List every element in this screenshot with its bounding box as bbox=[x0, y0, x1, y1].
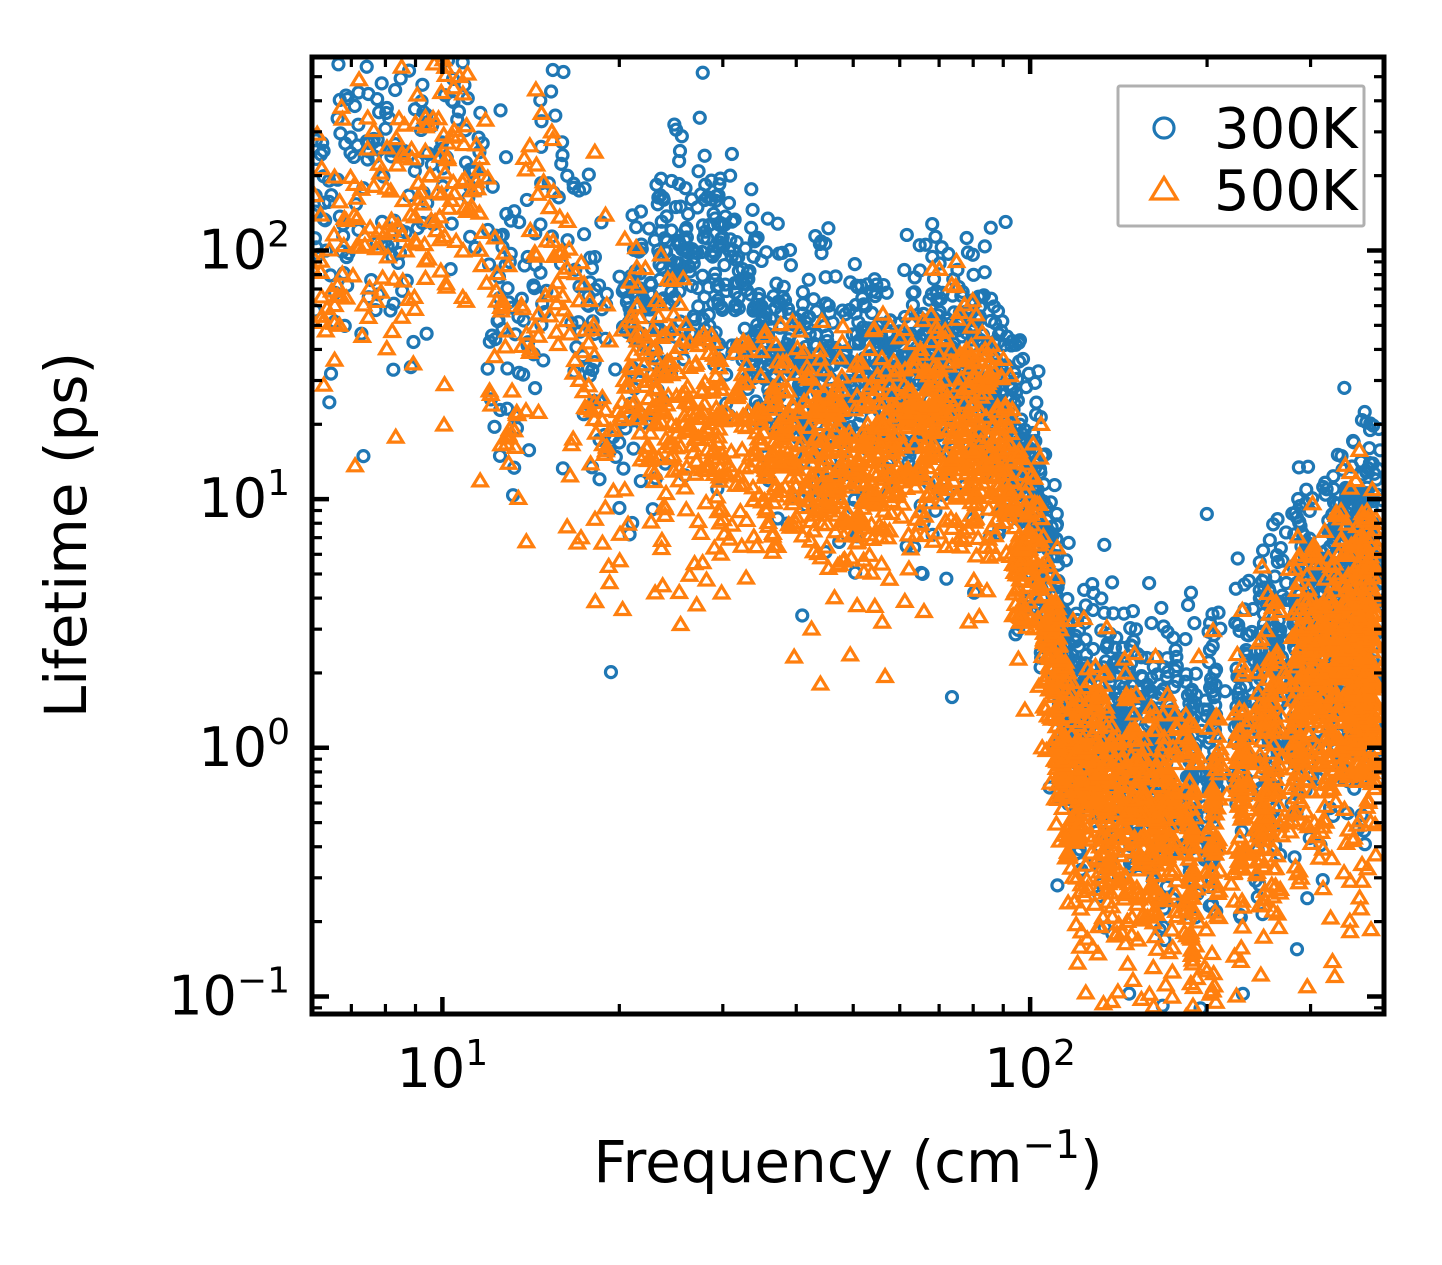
y-tick-labels: 10−1100101102 bbox=[168, 214, 290, 1027]
scatter-plot-canvas: 101102 10−1100101102 Frequency (cm−1) Li… bbox=[0, 0, 1442, 1265]
tick-label: 101 bbox=[397, 1033, 489, 1100]
tick-label: 10−1 bbox=[168, 960, 290, 1027]
tick-label: 100 bbox=[198, 712, 290, 779]
y-axis-title: Lifetime (ps) bbox=[32, 352, 100, 718]
x-axis-title: Frequency (cm−1) bbox=[593, 1123, 1102, 1196]
tick-label: 101 bbox=[198, 463, 290, 530]
legend-label: 500K bbox=[1214, 159, 1359, 224]
tick-label: 102 bbox=[984, 1033, 1076, 1100]
legend[interactable]: 300K500K bbox=[1118, 86, 1364, 226]
legend-label: 300K bbox=[1214, 97, 1359, 162]
x-tick-labels: 101102 bbox=[397, 1033, 1076, 1100]
phonon-lifetime-figure: 101102 10−1100101102 Frequency (cm−1) Li… bbox=[0, 0, 1442, 1265]
tick-label: 102 bbox=[198, 214, 290, 281]
